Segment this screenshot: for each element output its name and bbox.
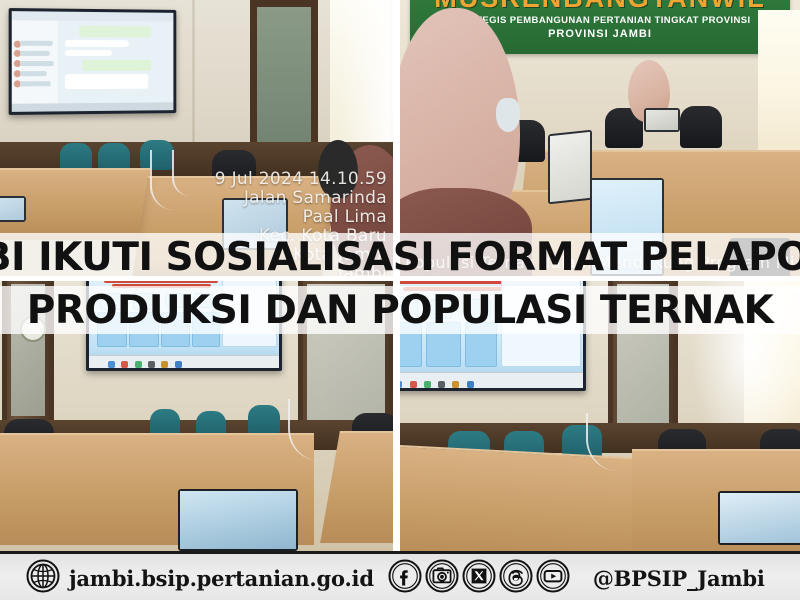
window <box>758 10 800 160</box>
youtube-icon[interactable] <box>536 559 570 598</box>
headline-band-2: PRODUKSI DAN POPULASI TERNAK <box>0 286 800 334</box>
social-handle[interactable]: @BPSIP_Jambi <box>593 566 765 591</box>
laptop <box>644 108 680 132</box>
instagram-icon[interactable] <box>425 559 459 598</box>
facebook-icon[interactable] <box>388 559 422 598</box>
chair <box>98 143 130 171</box>
face-mask <box>496 98 520 132</box>
headline-line-1: JAMBI IKUTI SOSIALISASI FORMAT PELAPORAN <box>0 238 800 277</box>
globe-icon <box>26 559 60 598</box>
chair <box>248 405 280 435</box>
laptop <box>718 491 800 545</box>
person-head <box>318 140 358 198</box>
laptop <box>548 130 592 205</box>
chair <box>60 143 92 171</box>
laptop <box>0 196 26 222</box>
laptop <box>178 489 298 551</box>
chat-application-screen <box>12 11 174 112</box>
office-chair <box>680 106 722 148</box>
website-url[interactable]: jambi.bsip.pertanian.go.id <box>69 566 374 591</box>
x-twitter-icon[interactable] <box>462 559 496 598</box>
social-media-card: 9 Jul 2024 14.10.59 Jalan Samarinda Paal… <box>0 0 800 600</box>
headline-line-2: PRODUKSI DAN POPULASI TERNAK <box>27 291 774 330</box>
footer-bar: jambi.bsip.pertanian.go.id <box>0 551 800 600</box>
projector-screen <box>9 8 177 115</box>
threads-icon[interactable] <box>499 559 533 598</box>
headline-band-1: JAMBI IKUTI SOSIALISASI FORMAT PELAPORAN <box>0 233 800 281</box>
